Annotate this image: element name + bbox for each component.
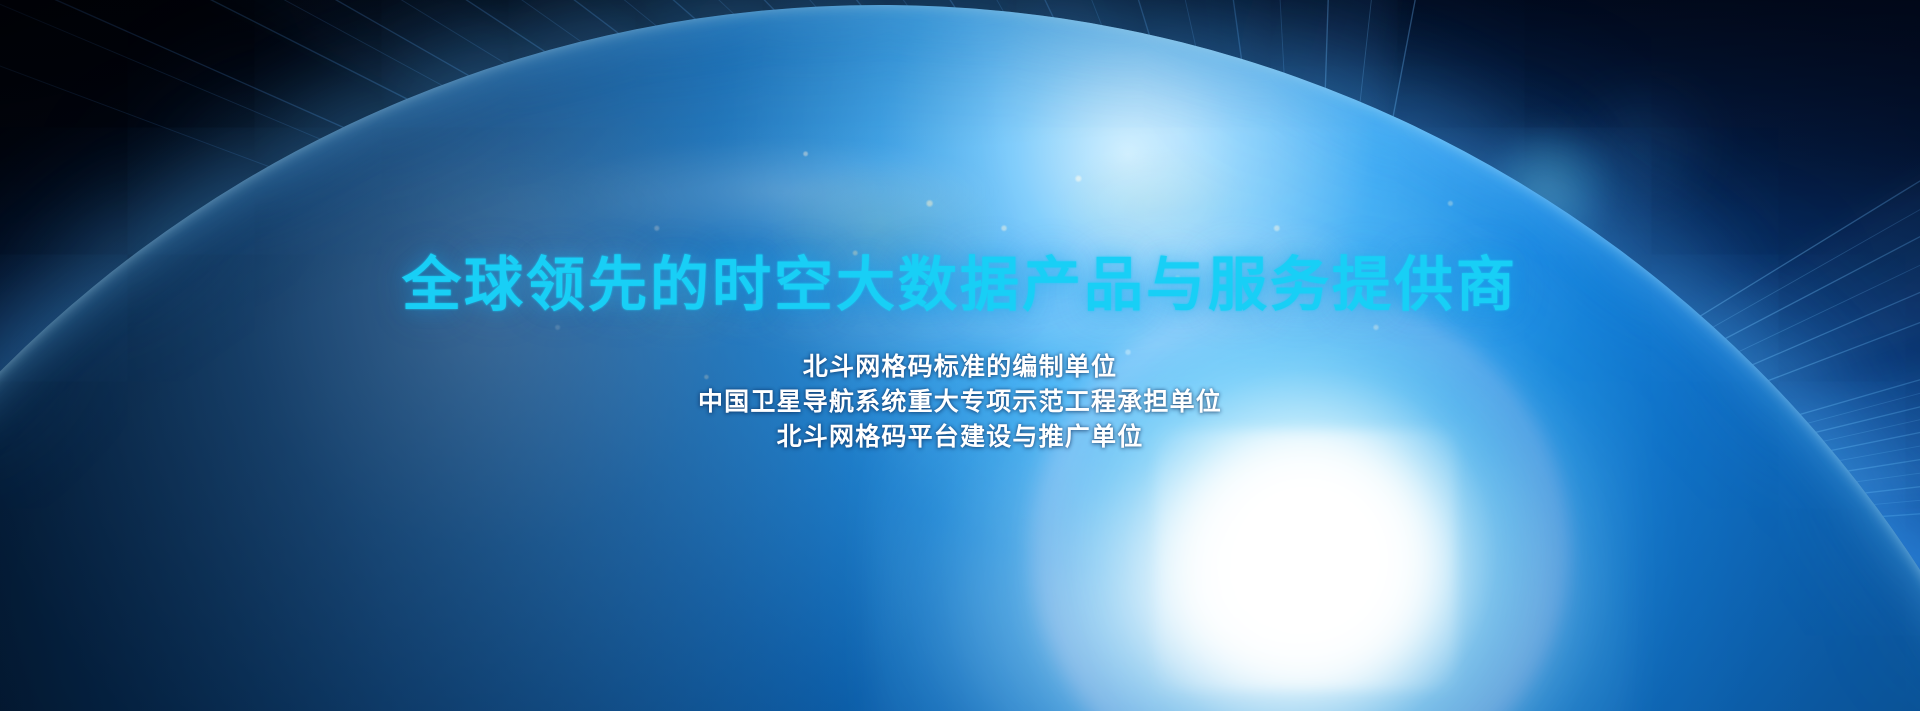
subtitle-line-3: 北斗网格码平台建设与推广单位	[0, 420, 1920, 455]
subtitle-line-1: 北斗网格码标准的编制单位	[0, 350, 1920, 385]
subtitle-line-2: 中国卫星导航系统重大专项示范工程承担单位	[0, 385, 1920, 420]
sun-hotspot	[1156, 430, 1456, 690]
subtitle-list: 北斗网格码标准的编制单位 中国卫星导航系统重大专项示范工程承担单位 北斗网格码平…	[0, 350, 1920, 455]
lens-flare-ghost	[1544, 58, 1737, 242]
lens-flare-blob	[1462, 106, 1633, 270]
page-title: 全球领先的时空大数据产品与服务提供商	[0, 256, 1920, 315]
hero-banner: 全球领先的时空大数据产品与服务提供商 北斗网格码标准的编制单位 中国卫星导航系统…	[0, 0, 1920, 711]
lens-flare-streak	[1063, 136, 1537, 523]
